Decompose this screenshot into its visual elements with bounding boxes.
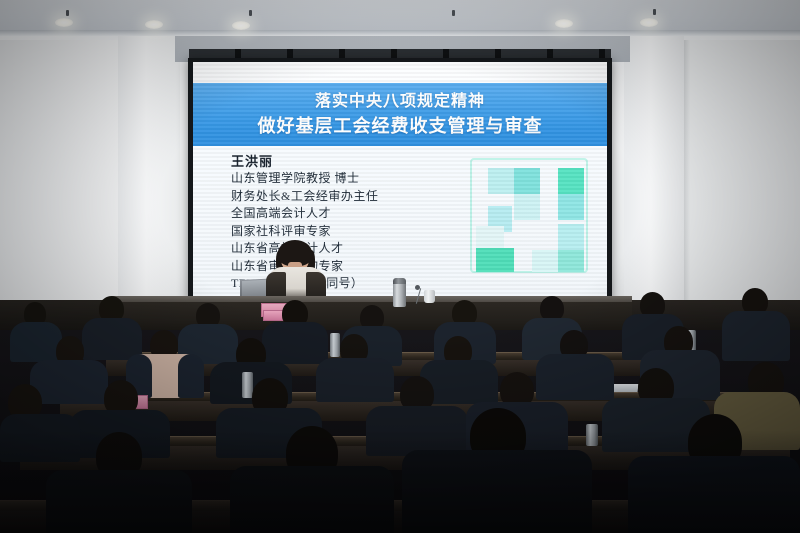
credential-line: 全国高端会计人才 [231,205,466,223]
credential-line: 财务处长&工会经审办主任 [231,188,466,206]
microphone-icon [415,285,420,290]
sprinkler-icon [452,10,455,16]
audience-body [178,354,204,398]
right-wall [682,40,800,330]
right-pillar [624,34,684,329]
mosaic-cell [532,250,558,272]
audience-body [366,406,468,456]
audience-body [82,318,142,360]
credential-line: 山东省高端会计人才 [231,240,466,258]
mosaic-cell [476,248,514,272]
cup [424,290,435,303]
audience-body [30,360,108,404]
credential-line: 山东省审计咨询专家 [231,258,466,276]
ceiling [0,0,800,34]
thermos-cap [393,278,406,284]
audience-body [628,456,800,533]
credential-line: 国家社科评审专家 [231,223,466,241]
mosaic-cell [488,168,514,194]
audience-body [316,358,394,402]
ceiling-light-icon [232,21,250,30]
mosaic-decoration [470,158,588,273]
audience-body [0,414,80,462]
mosaic-cell [558,168,584,194]
sprinkler-icon [653,9,656,15]
speaker-name: 王洪丽 [231,154,466,170]
water-bottle [586,424,598,446]
lecture-hall-photo: 落实中央八项规定精神 做好基层工会经费收支管理与审查 王洪丽 山东管理学院教授 … [0,0,800,533]
audience-body [722,311,790,361]
ceiling-light-icon [55,18,73,27]
sprinkler-icon [66,10,69,16]
mosaic-cell [514,194,540,220]
ceiling-light-icon [640,18,658,27]
speaker-info-block: 王洪丽 山东管理学院教授 博士 财务处长&工会经审办主任 全国高端会计人才 国家… [231,154,466,293]
slide-title-line-1: 落实中央八项规定精神 [315,92,485,112]
mosaic-cell [558,224,584,250]
audience-body [262,322,328,364]
ceiling-edge [0,30,800,36]
credential-line: 山东管理学院教授 博士 [231,170,466,188]
mosaic-cell [514,168,540,194]
ceiling-light-icon [145,20,163,29]
audience-body [230,466,394,533]
audience-body [402,450,592,533]
audience-body [536,354,614,400]
mosaic-cell [558,194,584,220]
mosaic-cell [558,250,584,272]
thermos-bottle [393,280,406,307]
presentation-slide: 落实中央八项规定精神 做好基层工会经费收支管理与审查 王洪丽 山东管理学院教授 … [193,62,607,296]
left-wall [0,40,120,330]
sprinkler-icon [249,10,252,16]
slide-title-band: 落实中央八项规定精神 做好基层工会经费收支管理与审查 [193,83,607,146]
slide-title-line-2: 做好基层工会经费收支管理与审查 [258,114,543,138]
audience-body [10,322,62,362]
water-bottle [330,333,340,357]
left-pillar [118,34,180,329]
audience-body [46,470,192,533]
ceiling-light-icon [555,19,573,28]
